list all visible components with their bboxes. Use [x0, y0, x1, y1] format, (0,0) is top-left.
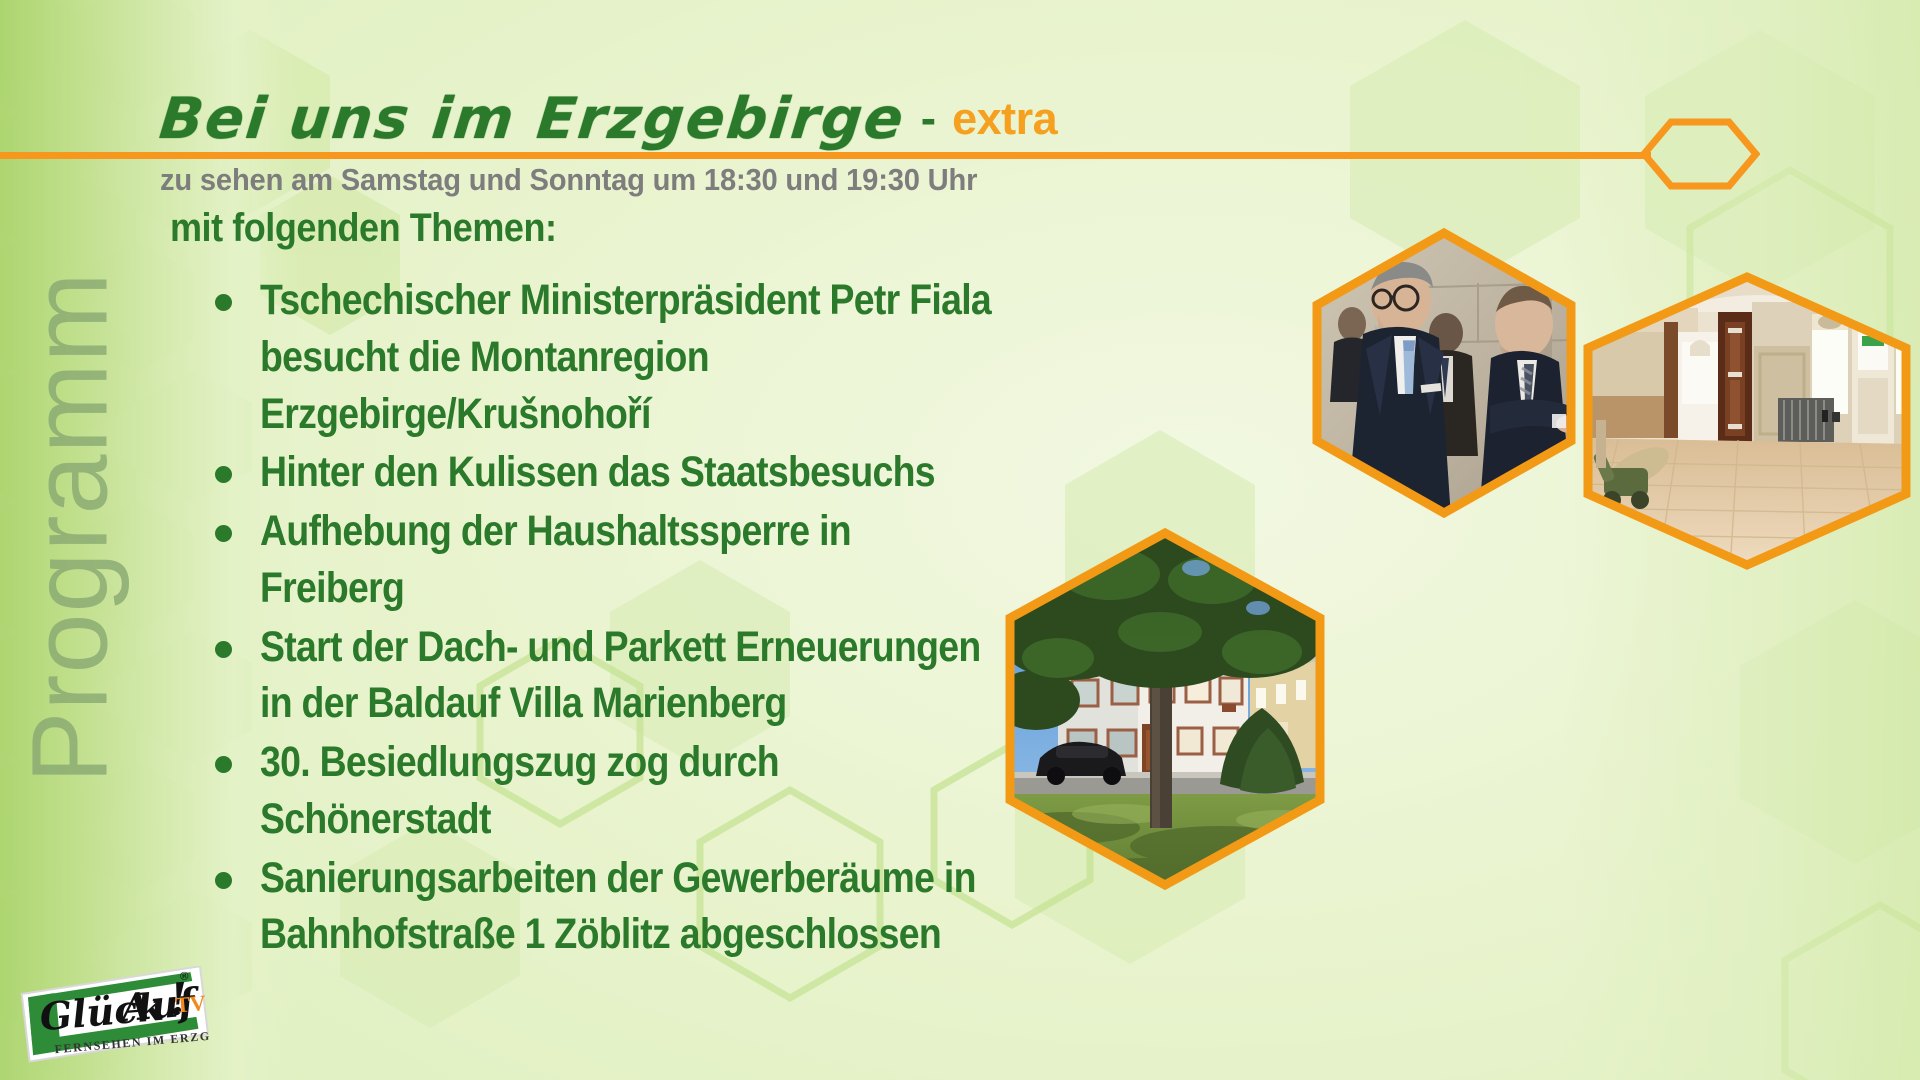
bullet-dot-icon: [215, 294, 232, 311]
bullet-dot-icon: [215, 641, 232, 658]
page-title: Bei uns im Erzgebirge: [157, 86, 909, 152]
bahnhofstrasse-zoeblitz-photo: [1000, 528, 1330, 890]
list-item-label: 30. Besiedlungszug zog durch Schönerstad…: [260, 734, 1004, 848]
list-item-label: Aufhebung der Haushaltssperre in Freiber…: [260, 503, 1004, 617]
bullet-dot-icon: [215, 756, 232, 773]
list-item: Start der Dach- und Parkett Erneuerungen…: [215, 619, 1115, 733]
list-item: Hinter den Kulissen das Staatsbesuchs: [215, 444, 1115, 501]
title-row: Bei uns im Erzgebirge - extra: [160, 86, 1057, 164]
list-item: Sanierungsarbeiten der Gewerberäume in B…: [215, 850, 1115, 964]
list-item-label: Start der Dach- und Parkett Erneuerungen…: [260, 619, 1004, 733]
topics-intro-text: mit folgenden Themen:: [170, 206, 557, 251]
bullet-dot-icon: [215, 872, 232, 889]
list-item-label: Hinter den Kulissen das Staatsbesuchs: [260, 444, 1004, 501]
topics-list: Tschechischer Ministerpräsident Petr Fia…: [215, 272, 1115, 965]
broadcast-schedule-text: zu sehen am Samstag und Sonntag um 18:30…: [160, 162, 977, 198]
bullet-dot-icon: [215, 466, 232, 483]
bullet-dot-icon: [215, 525, 232, 542]
slide-canvas: Programm Bei uns im Erzgebirge - extra z…: [0, 0, 1920, 1080]
baldauf-villa-parkett-photo: [1578, 272, 1916, 570]
list-item-label: Sanierungsarbeiten der Gewerberäume in B…: [260, 850, 1004, 964]
list-item: 30. Besiedlungszug zog durch Schönerstad…: [215, 734, 1115, 848]
title-extra-badge: extra: [952, 93, 1057, 145]
svg-text:TV: TV: [174, 990, 207, 1018]
list-item-label: Tschechischer Ministerpräsident Petr Fia…: [260, 272, 1004, 442]
glueckauf-tv-logo[interactable]: Glück Auf ! ® TV FERNSEHEN IM ERZGEBIRGE: [18, 966, 210, 1066]
list-item: Tschechischer Ministerpräsident Petr Fia…: [215, 272, 1115, 442]
title-dash: -: [921, 91, 936, 145]
petr-fiala-and-michael-kretschmer-photo: [1308, 228, 1580, 518]
svg-text:®: ®: [178, 969, 190, 983]
orange-hexagon-outline-icon: [1640, 118, 1760, 195]
list-item: Aufhebung der Haushaltssperre in Freiber…: [215, 503, 1115, 617]
vertical-programm-label: Programm: [7, 271, 132, 783]
